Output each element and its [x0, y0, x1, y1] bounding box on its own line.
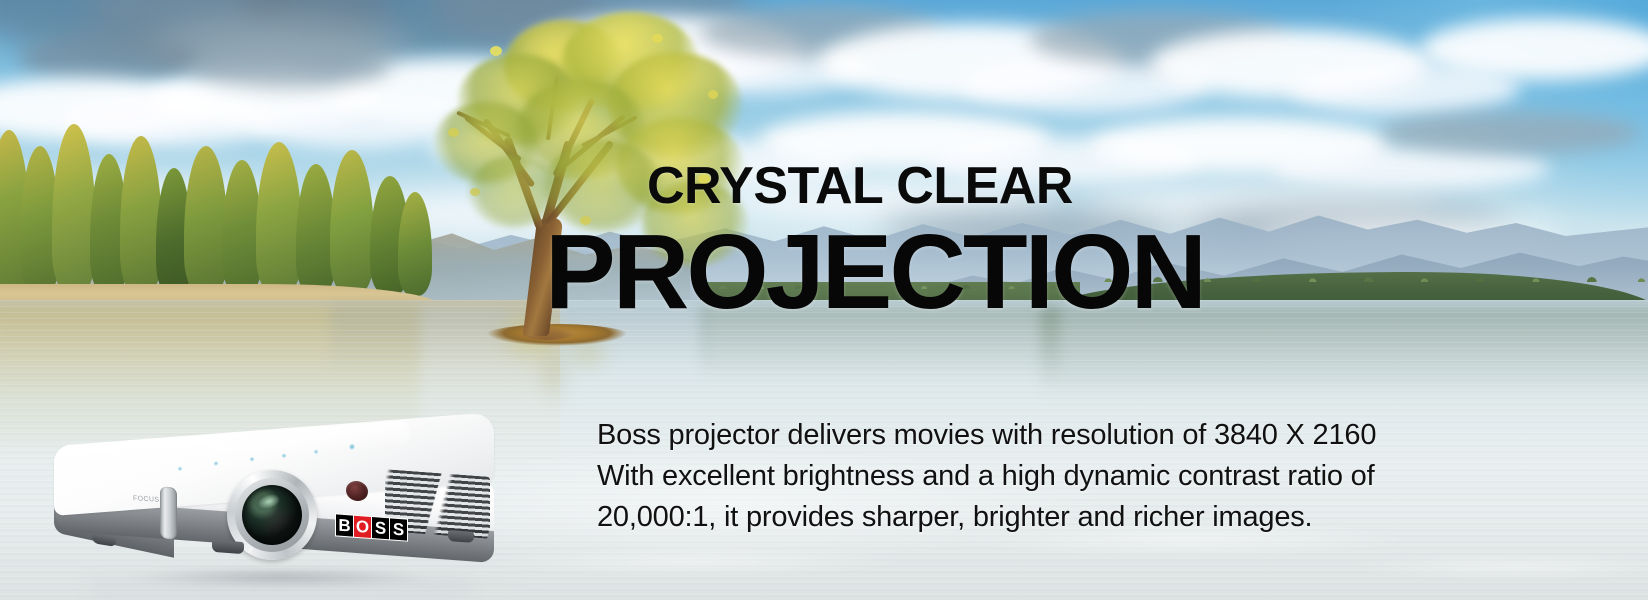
lens-specular-highlight — [257, 492, 282, 511]
description-line-1: Boss projector delivers movies with reso… — [597, 415, 1467, 456]
logo-letter-b: B — [336, 514, 353, 536]
projector-foot-front — [212, 540, 244, 554]
lens-glass — [242, 485, 302, 545]
lens-barrel — [235, 478, 309, 552]
logo-letter-s1: S — [372, 517, 389, 539]
description-line-3: 20,000:1, it provides sharper, brighter … — [597, 497, 1467, 538]
headline-kicker: CRYSTAL CLEAR — [647, 160, 1204, 212]
focus-dial[interactable] — [160, 486, 177, 540]
focus-label: FOCUS — [133, 495, 160, 503]
description-line-2: With excellent brightness and a high dyn… — [597, 456, 1467, 497]
logo-letter-o: O — [354, 516, 371, 538]
poplar-grove — [0, 126, 416, 296]
projector-foot-right — [448, 530, 474, 543]
projector-product-image: FOCUS B O S S — [40, 415, 530, 585]
projector-reflection — [90, 577, 470, 600]
product-description: Boss projector delivers movies with reso… — [597, 415, 1467, 538]
logo-letter-s2: S — [390, 518, 407, 540]
hero-banner: CRYSTAL CLEAR PROJECTION Boss projector … — [0, 0, 1648, 600]
headline-main: PROJECTION — [545, 218, 1204, 326]
headline-group: CRYSTAL CLEAR PROJECTION — [545, 160, 1204, 326]
